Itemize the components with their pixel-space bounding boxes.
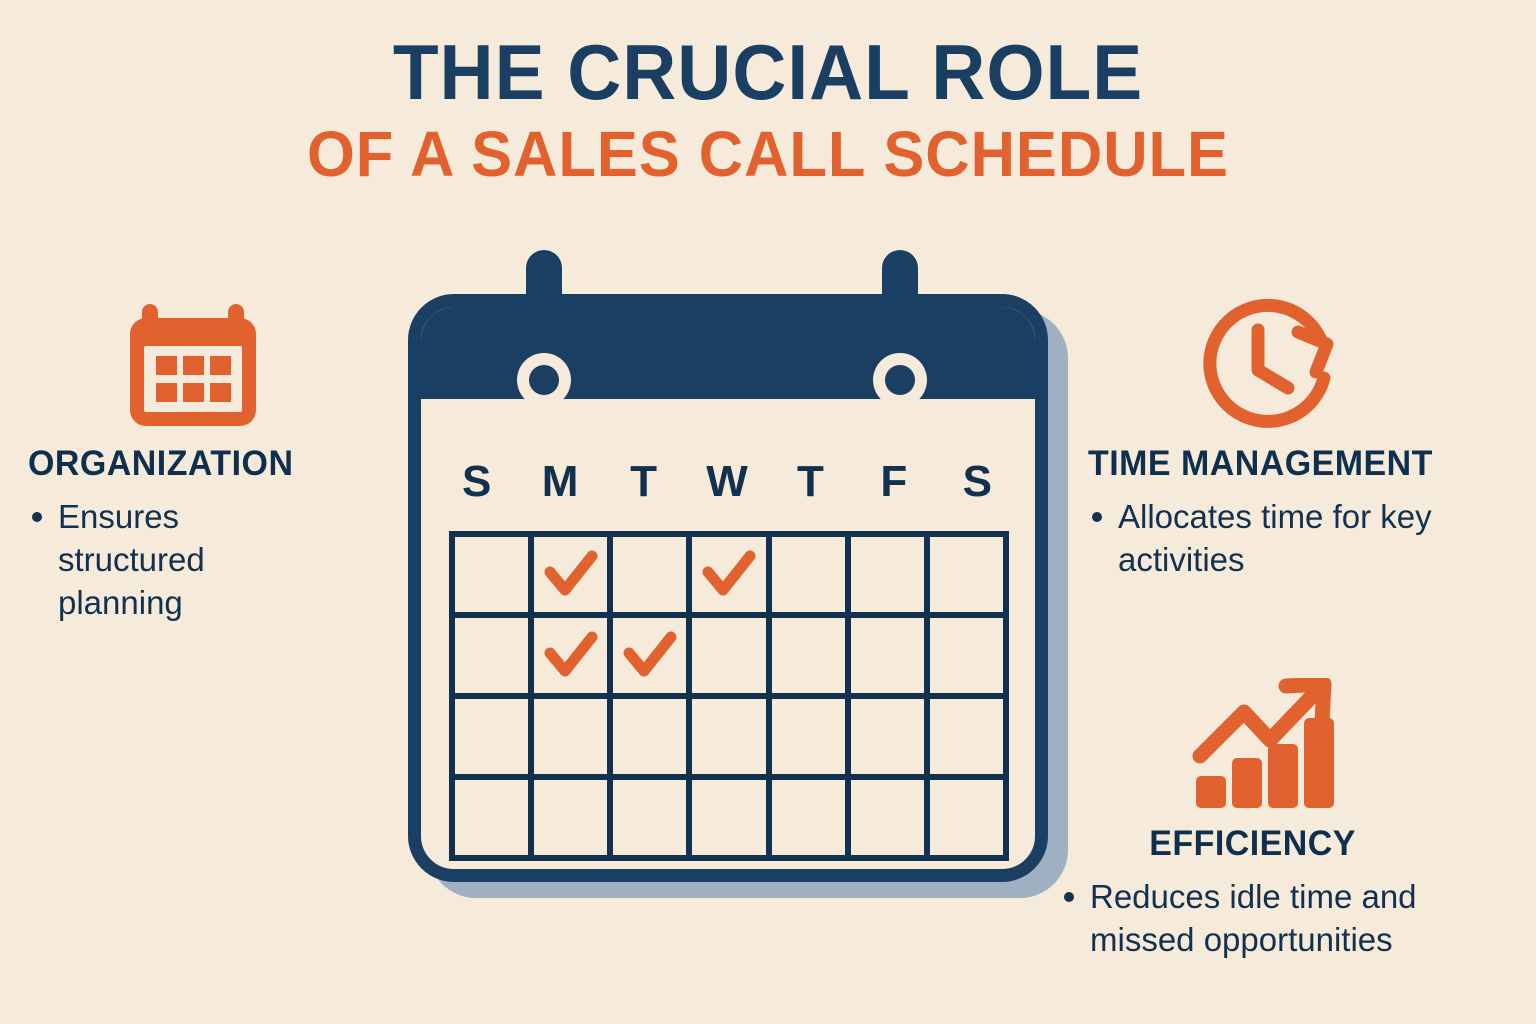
checkmark-icon [544,629,598,683]
calendar-ring-hole-inner-left [529,365,559,395]
calendar-cell[interactable] [930,618,1009,699]
calendar-cell[interactable] [613,618,692,699]
calendar-cell[interactable] [613,537,692,618]
feature-bullet-time-management: Allocates time for key activities [1088,496,1508,582]
calendar-cell[interactable] [455,699,534,780]
calendar-cell[interactable] [613,699,692,780]
calendar-cell[interactable] [930,699,1009,780]
calendar-ring-hole-right [873,353,927,407]
calendar-day-header-row: S M T W T F S [435,457,1019,507]
feature-organization: ORGANIZATION Ensures structured planning [28,300,400,625]
calendar-cell[interactable] [772,780,851,861]
calendar-grid [449,531,1009,861]
calendar-ring-hole-inner-right [885,365,915,395]
calendar-cell[interactable] [455,537,534,618]
calendar-cell[interactable] [534,699,613,780]
calendar-cell[interactable] [772,699,851,780]
calendar-cell[interactable] [534,537,613,618]
calendar-cell[interactable] [851,699,930,780]
feature-heading-time-management: TIME MANAGEMENT [1088,444,1495,484]
calendar-cell[interactable] [613,780,692,861]
feature-heading-organization: ORGANIZATION [28,444,389,484]
calendar-cell[interactable] [692,618,771,699]
calendar-body: S M T W T F S [408,294,1048,882]
calendar-cell[interactable] [455,780,534,861]
feature-bullet-text-organization: Ensures structured planning [58,496,273,625]
page-title: THE CRUCIAL ROLE OF A SALES CALL SCHEDUL… [0,30,1536,192]
day-header-friday: F [852,457,935,507]
day-header-wednesday: W [685,457,768,507]
calendar-cell[interactable] [930,537,1009,618]
growth-chart-icon [1060,680,1520,812]
feature-bullet-text-time-management: Allocates time for key activities [1118,496,1468,582]
feature-heading-efficiency: EFFICIENCY [1060,824,1506,864]
feature-time-management: TIME MANAGEMENT Allocates time for key a… [1088,300,1508,582]
calendar-icon [28,300,400,432]
calendar-cell[interactable] [692,699,771,780]
calendar-illustration: S M T W T F S [408,248,1068,898]
checkmark-icon [544,548,598,602]
infographic-canvas: THE CRUCIAL ROLE OF A SALES CALL SCHEDUL… [0,0,1536,1024]
bullet-dot-icon [32,512,42,522]
title-line-secondary: OF A SALES CALL SCHEDULE [31,118,1506,192]
calendar-cell[interactable] [930,780,1009,861]
calendar-ring-hole-left [517,353,571,407]
calendar-cell[interactable] [851,618,930,699]
calendar-cell[interactable] [851,780,930,861]
feature-efficiency: EFFICIENCY Reduces idle time and missed … [1060,680,1520,962]
feature-bullet-efficiency: Reduces idle time and missed opportuniti… [1060,876,1520,962]
day-header-saturday: S [936,457,1019,507]
calendar-cell[interactable] [772,537,851,618]
calendar-cell[interactable] [692,537,771,618]
checkmark-icon [623,629,677,683]
calendar-cell[interactable] [534,618,613,699]
calendar-cell[interactable] [534,780,613,861]
day-header-tuesday: T [602,457,685,507]
day-header-monday: M [518,457,601,507]
calendar-cell[interactable] [772,618,851,699]
feature-bullet-text-efficiency: Reduces idle time and missed opportuniti… [1090,876,1510,962]
feature-bullet-organization: Ensures structured planning [28,496,400,625]
bullet-dot-icon [1092,512,1102,522]
checkmark-icon [702,548,756,602]
calendar-cell[interactable] [851,537,930,618]
clock-arrow-icon [1088,300,1508,432]
day-header-sunday: S [435,457,518,507]
calendar-header-band [421,307,1035,399]
day-header-thursday: T [769,457,852,507]
calendar-cell[interactable] [692,780,771,861]
calendar-cell[interactable] [455,618,534,699]
title-line-primary: THE CRUCIAL ROLE [31,30,1506,114]
